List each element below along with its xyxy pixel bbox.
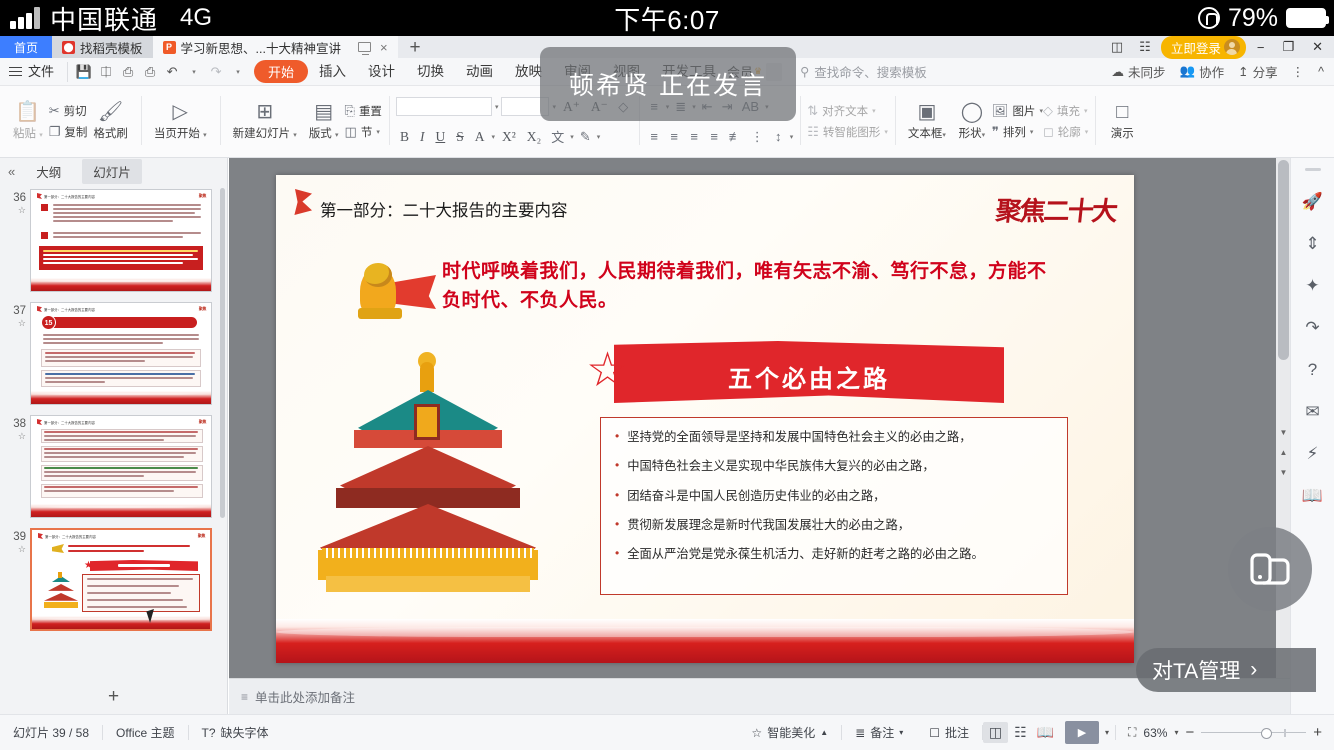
missing-font-label: 缺失字体 xyxy=(221,724,269,741)
bullet-text: 坚持党的全面领导是坚持和发展中国特色社会主义的必由之路， xyxy=(627,430,971,445)
search-box[interactable]: ⚲ 查找命令、搜索模板 xyxy=(800,62,927,81)
pinyin-icon[interactable]: 文 xyxy=(548,127,567,146)
to-smartart-icon: ☷ xyxy=(807,124,819,140)
login-label: 立即登录 xyxy=(1171,38,1221,57)
slide-thumbnail-39[interactable]: 第一部分：二十大报告的主要内容 聚焦 ★ xyxy=(30,528,212,631)
bullet-text: 团结奋斗是中国人民创造历史伟业的必由之路， xyxy=(627,489,885,504)
justify-icon[interactable]: ≡ xyxy=(706,129,723,144)
align-center-icon[interactable]: ≡ xyxy=(666,129,683,144)
ribbon-group-present: ▷ 当页开始 ▾ xyxy=(141,86,220,157)
phone-status-bar: 中国联通 4G 下午6:07 79% xyxy=(0,0,1334,36)
search-placeholder: 查找命令、搜索模板 xyxy=(814,62,927,81)
sync-status-label: 未同步 xyxy=(1128,62,1166,81)
scroll-down-icon[interactable]: ▼ xyxy=(1278,426,1289,440)
book-search-icon[interactable]: 📖 xyxy=(1300,483,1326,509)
bullet-text: 全面从严治党是党永葆生机活力、走好新的赶考之路的必由之路。 xyxy=(627,547,984,562)
cut-button[interactable]: ✂ 剪切 xyxy=(49,103,88,119)
sync-status[interactable]: ☁ 未同步 xyxy=(1112,62,1166,81)
copy-button[interactable]: ❐ 复制 xyxy=(49,124,88,140)
animation-star-icon: ☆ xyxy=(4,431,26,442)
network-type-label: 4G xyxy=(180,4,212,32)
comment-label: 批注 xyxy=(945,724,969,741)
speaking-notification-overlay: 顿希贤 正在发言 xyxy=(540,47,796,121)
outline-button[interactable]: ◻ 轮廓▾ xyxy=(1043,124,1088,140)
new-slide-button[interactable]: ⊞ 新建幻灯片 ▾ xyxy=(227,102,303,141)
notes-toggle-button[interactable]: ≣ 备注 ▾ xyxy=(842,724,916,741)
manage-label: 对TA管理 xyxy=(1152,655,1240,685)
share-label: 分享 xyxy=(1253,62,1278,81)
animation-star-icon: ☆ xyxy=(4,318,26,329)
paste-button[interactable]: 📋 粘贴 ▾ xyxy=(7,102,49,141)
tab-home[interactable]: 首页 xyxy=(0,36,52,58)
fill-icon: ◇ xyxy=(1043,103,1053,119)
textbox-button[interactable]: ▣ 文本框▾ xyxy=(902,102,952,141)
section-icon: ◫ xyxy=(345,124,357,140)
subscript-icon[interactable]: X₂ xyxy=(523,129,545,145)
to-smartart-button[interactable]: ☷ 转智能图形▾ xyxy=(807,124,888,140)
strikethrough-icon[interactable]: S xyxy=(452,129,468,145)
slide-thumbnail-36[interactable]: 第一部分：二十大报告的主要内容 聚焦 xyxy=(30,189,212,292)
slide-bullet-list: • 坚持党的全面领导是坚持和发展中国特色社会主义的必由之路， • 中国特色社会主… xyxy=(600,417,1068,595)
tab-insert[interactable]: 插入 xyxy=(308,58,357,86)
highlight-icon[interactable]: ✎ xyxy=(577,129,594,145)
beautify-caret-icon[interactable]: ▲ xyxy=(820,728,828,737)
align-text-button[interactable]: ⇅ 对齐文本▾ xyxy=(807,103,888,119)
slide-footer-decoration xyxy=(276,619,1134,663)
panel-tab-outline[interactable]: 大纲 xyxy=(25,159,72,184)
presentation-button[interactable]: □ 演示 xyxy=(1102,102,1142,141)
rail-grip-handle[interactable] xyxy=(1305,168,1321,171)
thumbnail-list[interactable]: 36 ☆ 第一部分：二十大报告的主要内容 聚焦 xyxy=(0,184,227,680)
hamburger-icon xyxy=(9,64,22,79)
ribbon-group-insert: ▣ 文本框▾ ◯ 形状▾ 🖼 图片▾ ❞ 排列▾ ◇ 填充▾ ◻ 轮廓▾ xyxy=(895,86,1095,157)
missing-font-status[interactable]: T? 缺失字体 xyxy=(189,724,282,741)
quick-access-toolbar: 💾 ⎅ ⎙ ⎙ ↶ ▾ ↷ ▾ xyxy=(67,62,254,82)
slide-panel-header: « 大纲 幻灯片 xyxy=(0,158,227,184)
picture-button[interactable]: 🖼 图片▾ xyxy=(992,103,1043,119)
file-menu-label: 文件 xyxy=(28,58,54,86)
view-normal-icon[interactable]: ◫ xyxy=(983,722,1008,743)
tab-start[interactable]: 开始 xyxy=(254,60,308,83)
slide-counter[interactable]: 幻灯片 39 / 58 xyxy=(0,724,102,741)
screen-cast-icon[interactable] xyxy=(1228,527,1312,611)
thumbnail-item[interactable]: 39 ☆ 第一部分：二十大报告的主要内容 聚焦 ★ xyxy=(0,523,227,636)
feedback-icon[interactable]: ✉ xyxy=(1300,399,1326,425)
file-menu-button[interactable]: 文件 xyxy=(0,58,63,86)
collapse-left-icon[interactable]: « xyxy=(8,164,15,179)
columns-icon[interactable]: ⋮ xyxy=(748,129,767,145)
cut-icon: ✂ xyxy=(49,103,60,119)
bullet-dot-icon: • xyxy=(615,489,619,504)
tab-active-label: 学习新思想、...十大精神宣讲 xyxy=(181,38,341,57)
layout-icon: ▤ xyxy=(314,102,333,122)
tab-close-icon[interactable]: × xyxy=(380,40,388,55)
fill-button[interactable]: ◇ 填充▾ xyxy=(1043,103,1088,119)
comment-button[interactable]: ☐ 批注 xyxy=(916,724,982,741)
font-family-input[interactable] xyxy=(396,97,492,116)
print-icon[interactable]: ⎙ xyxy=(118,62,138,82)
fit-to-window-icon[interactable]: ⛶ xyxy=(1128,725,1136,740)
window-minimize-button[interactable]: − xyxy=(1250,40,1272,55)
signal-bars-icon xyxy=(10,7,40,29)
temple-of-heaven-icon xyxy=(318,350,538,612)
format-painter-button[interactable]: 🖌 格式刷 xyxy=(87,102,134,141)
thumbnail-item[interactable]: 36 ☆ 第一部分：二十大报告的主要内容 聚焦 xyxy=(0,184,227,297)
slide-thumbnail-37[interactable]: 第一部分：二十大报告的主要内容 聚焦 15 xyxy=(30,302,212,405)
tab-transition[interactable]: 切换 xyxy=(406,58,455,86)
format-painter-icon: 🖌 xyxy=(98,102,123,122)
animation-star-icon: ☆ xyxy=(4,544,26,555)
zoom-out-button[interactable]: − xyxy=(1185,724,1194,741)
zoom-dropdown-icon[interactable]: ▾ xyxy=(1174,728,1178,737)
undo-icon[interactable]: ↶ xyxy=(162,62,182,82)
arrange-button[interactable]: ❞ 排列▾ xyxy=(992,124,1043,140)
arrange-icon: ❞ xyxy=(992,124,999,140)
customize-qat-icon[interactable]: ▾ xyxy=(228,62,248,82)
redo-icon[interactable]: ↷ xyxy=(206,62,226,82)
collaborate-label: 协作 xyxy=(1199,62,1224,81)
distribute-icon[interactable]: ≢ xyxy=(726,129,745,144)
bullet-dot-icon: • xyxy=(615,430,619,445)
thumbnail-item[interactable]: 38 ☆ 第一部分：二十大报告的主要内容 聚焦 xyxy=(0,410,227,523)
sliders-icon[interactable]: ⇕ xyxy=(1300,231,1326,257)
share-shape-icon[interactable]: ↷ xyxy=(1300,315,1326,341)
cast-icon[interactable] xyxy=(358,42,371,52)
bullet-text: 贯彻新发展理念是新时代我国发展壮大的必由之路， xyxy=(627,518,910,533)
view-reading-icon[interactable]: 📖 xyxy=(1033,722,1058,743)
chevron-up-icon[interactable]: ^ xyxy=(1318,65,1324,79)
theme-label[interactable]: Office 主题 xyxy=(103,724,187,741)
zoom-slider[interactable] xyxy=(1201,727,1306,739)
login-button[interactable]: 立即登录 xyxy=(1161,36,1246,59)
slide-header-text: 第一部分：二十大报告的主要内容 xyxy=(320,197,620,224)
battery-percent-label: 79% xyxy=(1228,4,1278,33)
ribbon-group-textalign: ⇅ 对齐文本▾ ☷ 转智能图形▾ xyxy=(800,86,895,157)
save-icon[interactable]: 💾 xyxy=(74,62,94,82)
shapes-icon: ◯ xyxy=(961,102,983,122)
slide-banner: ☆ 五个必由之路 xyxy=(614,341,1004,403)
lion-ribbon-decoration xyxy=(358,263,436,319)
beautify-button[interactable]: ☆ 智能美化 ▲ xyxy=(738,724,841,741)
align-right-icon[interactable]: ≡ xyxy=(686,129,703,144)
divider xyxy=(1115,725,1116,740)
bullet-dot-icon: • xyxy=(615,518,619,533)
print-preview-icon[interactable]: ⎙ xyxy=(140,62,160,82)
tab-home-label: 首页 xyxy=(14,39,38,56)
align-text-icon: ⇅ xyxy=(807,103,818,119)
copy-icon: ❐ xyxy=(49,124,61,140)
slide-quote-text: 时代呼唤着我们，人民期待着我们，唯有矢志不渝、笃行不怠，方能不负时代、不负人民。 xyxy=(442,257,1062,316)
tab-design[interactable]: 设计 xyxy=(357,58,406,86)
reset-button[interactable]: ⎘ 重置 xyxy=(345,103,382,119)
italic-icon[interactable]: I xyxy=(416,129,429,145)
bullet-text: 中国特色社会主义是实现中华民族伟大复兴的必由之路， xyxy=(627,459,934,474)
add-slide-button[interactable]: + xyxy=(0,680,227,714)
collaborate-icon: 👥 xyxy=(1180,64,1196,79)
bullet-dot-icon: • xyxy=(615,459,619,474)
bullet-item: • 贯彻新发展理念是新时代我国发展壮大的必由之路， xyxy=(615,518,1053,533)
docer-icon: ⬤ xyxy=(62,41,75,54)
tab-animation[interactable]: 动画 xyxy=(455,58,504,86)
clock-label: 下午6:07 xyxy=(614,0,720,37)
help-circle-icon[interactable]: ? xyxy=(1300,357,1326,383)
bold-icon[interactable]: B xyxy=(396,129,413,145)
picture-icon: 🖼 xyxy=(992,103,1009,119)
ribbon-group-slides: ⊞ 新建幻灯片 ▾ ▤ 版式 ▾ ⎘ 重置 ◫ 节 ▾ xyxy=(220,86,389,157)
animation-star-icon: ☆ xyxy=(4,205,26,216)
notes-placeholder: 单击此处添加备注 xyxy=(255,687,355,706)
next-slide-icon[interactable]: ▼ xyxy=(1278,466,1289,480)
slide-editor-canvas[interactable]: 第一部分：二十大报告的主要内容 聚焦二十大 时代呼唤着我们，人民期待着我们，唯有… xyxy=(229,158,1290,714)
bullet-item: • 全面从严治党是党永葆生机活力、走好新的赶考之路的必由之路。 xyxy=(615,547,1053,562)
notes-caret-icon[interactable]: ▾ xyxy=(899,728,903,737)
text-color-icon[interactable]: A xyxy=(471,129,489,145)
status-bar: 幻灯片 39 / 58 Office 主题 T? 缺失字体 ☆ 智能美化 ▲ ≣… xyxy=(0,714,1334,750)
panel-tab-slides[interactable]: 幻灯片 xyxy=(82,159,142,184)
lightning-icon[interactable]: ⚡ xyxy=(1300,441,1326,467)
font-family-dropdown-icon[interactable]: ▾ xyxy=(495,103,499,111)
add-notes-icon: ≡ xyxy=(241,690,248,704)
presentation-icon: □ xyxy=(1116,102,1128,122)
tab-docer-template[interactable]: ⬤ 找稻壳模板 xyxy=(52,36,153,58)
undo-dropdown-icon[interactable]: ▾ xyxy=(184,62,204,82)
thumbnail-number: 37 xyxy=(13,305,26,317)
ribbon-group-presentation-tools: □ 演示 xyxy=(1095,86,1149,157)
notes-label: 备注 xyxy=(870,724,894,741)
play-icon[interactable]: ▶ xyxy=(1065,721,1099,744)
magic-star-icon[interactable]: ✦ xyxy=(1300,273,1326,299)
start-from-current-button[interactable]: ▷ 当页开始 ▾ xyxy=(148,102,213,141)
share-icon: ↥ xyxy=(1238,64,1248,79)
slide-logo-text: 聚焦二十大 xyxy=(994,191,1118,228)
thumbnail-number: 38 xyxy=(13,418,26,430)
thumbnail-item[interactable]: 37 ☆ 第一部分：二十大报告的主要内容 聚焦 15 xyxy=(0,297,227,410)
shapes-button[interactable]: ◯ 形状▾ xyxy=(952,102,992,141)
line-spacing-icon[interactable]: ↕ xyxy=(770,129,787,144)
user-avatar-icon xyxy=(1224,39,1240,55)
beautify-label: 智能美化 xyxy=(767,724,815,741)
comment-icon: ☐ xyxy=(929,726,940,740)
bullet-item: • 中国特色社会主义是实现中华民族伟大复兴的必由之路， xyxy=(615,459,1053,474)
new-slide-icon: ⊞ xyxy=(256,102,273,122)
bullet-item: • 坚持党的全面领导是坚持和发展中国特色社会主义的必由之路， xyxy=(615,430,1053,445)
ppt-file-icon: P xyxy=(163,41,176,54)
cloud-sync-icon: ☁ xyxy=(1112,64,1125,79)
manage-participant-button[interactable]: 对TA管理 › xyxy=(1136,648,1316,692)
thumbnail-number: 39 xyxy=(13,531,26,543)
superscript-icon[interactable]: X² xyxy=(498,129,520,145)
rocket-icon[interactable]: 🚀 xyxy=(1300,189,1326,215)
reset-icon: ⎘ xyxy=(345,103,355,119)
bullet-dot-icon: • xyxy=(615,547,619,562)
zoom-level-label[interactable]: 63% xyxy=(1143,726,1167,740)
layout-button[interactable]: ▤ 版式 ▾ xyxy=(303,102,345,141)
save-as-cloud-icon[interactable]: ⎅ xyxy=(96,62,116,82)
collaborate-button[interactable]: 👥 协作 xyxy=(1180,62,1225,81)
window-restore-button[interactable]: ❐ xyxy=(1275,39,1301,55)
tab-docer-label: 找稻壳模板 xyxy=(80,38,143,57)
align-left-icon[interactable]: ≡ xyxy=(646,129,663,144)
chevron-right-icon: › xyxy=(1250,658,1257,682)
right-tool-rail: 🚀 ⇕ ✦ ↷ ? ✉ ⚡ 📖 xyxy=(1290,158,1334,714)
canvas-vertical-scrollbar[interactable]: ▼ ▲ ▼ xyxy=(1276,158,1290,714)
tab-active-document[interactable]: P 学习新思想、...十大精神宣讲 × xyxy=(153,36,398,58)
more-vertical-icon[interactable]: ⋮ xyxy=(1292,64,1305,79)
bullet-item: • 团结奋斗是中国人民创造历史伟业的必由之路， xyxy=(615,489,1053,504)
canvas-scroll-thumb[interactable] xyxy=(1278,160,1289,360)
rotation-lock-icon xyxy=(1198,7,1220,29)
share-button[interactable]: ↥ 分享 xyxy=(1238,62,1278,81)
view-sorter-icon[interactable]: ☷ xyxy=(1008,722,1033,743)
font-warning-icon: T? xyxy=(202,726,216,740)
play-circle-icon: ▷ xyxy=(173,102,188,122)
section-button[interactable]: ◫ 节 ▾ xyxy=(345,124,382,140)
notes-pane[interactable]: ≡ 单击此处添加备注 xyxy=(229,678,1290,714)
carrier-label: 中国联通 xyxy=(50,0,158,37)
notes-icon: ≣ xyxy=(855,726,865,740)
beautify-icon: ☆ xyxy=(751,726,762,740)
slide-thumbnail-panel: « 大纲 幻灯片 36 ☆ 第一部分：二十大报告的主要内容 聚焦 xyxy=(0,158,228,714)
prev-slide-icon[interactable]: ▲ xyxy=(1278,446,1289,460)
apps-grid-icon[interactable]: ☷ xyxy=(1133,39,1157,55)
underline-icon[interactable]: U xyxy=(431,129,449,145)
play-dropdown-icon[interactable]: ▾ xyxy=(1099,728,1115,737)
current-slide[interactable]: 第一部分：二十大报告的主要内容 聚焦二十大 时代呼唤着我们，人民期待着我们，唯有… xyxy=(276,175,1134,663)
ribbon-group-clipboard: 📋 粘贴 ▾ ✂ 剪切 ❐ 复制 🖌 格式刷 xyxy=(0,86,141,157)
textbox-icon: ▣ xyxy=(917,102,936,122)
window-close-button[interactable]: ✕ xyxy=(1305,39,1330,55)
outline-icon: ◻ xyxy=(1043,124,1054,140)
zoom-in-button[interactable]: + xyxy=(1313,724,1322,741)
thumbnail-number: 36 xyxy=(13,192,26,204)
new-tab-button[interactable]: + xyxy=(398,38,433,58)
split-view-icon[interactable]: ◫ xyxy=(1105,39,1129,55)
search-icon: ⚲ xyxy=(800,64,809,79)
paste-icon: 📋 xyxy=(15,102,40,122)
battery-icon xyxy=(1286,8,1326,28)
banner-title-text: 五个必由之路 xyxy=(614,359,1004,394)
slide-thumbnail-38[interactable]: 第一部分：二十大报告的主要内容 聚焦 xyxy=(30,415,212,518)
thumbnail-scrollbar[interactable] xyxy=(220,188,225,518)
